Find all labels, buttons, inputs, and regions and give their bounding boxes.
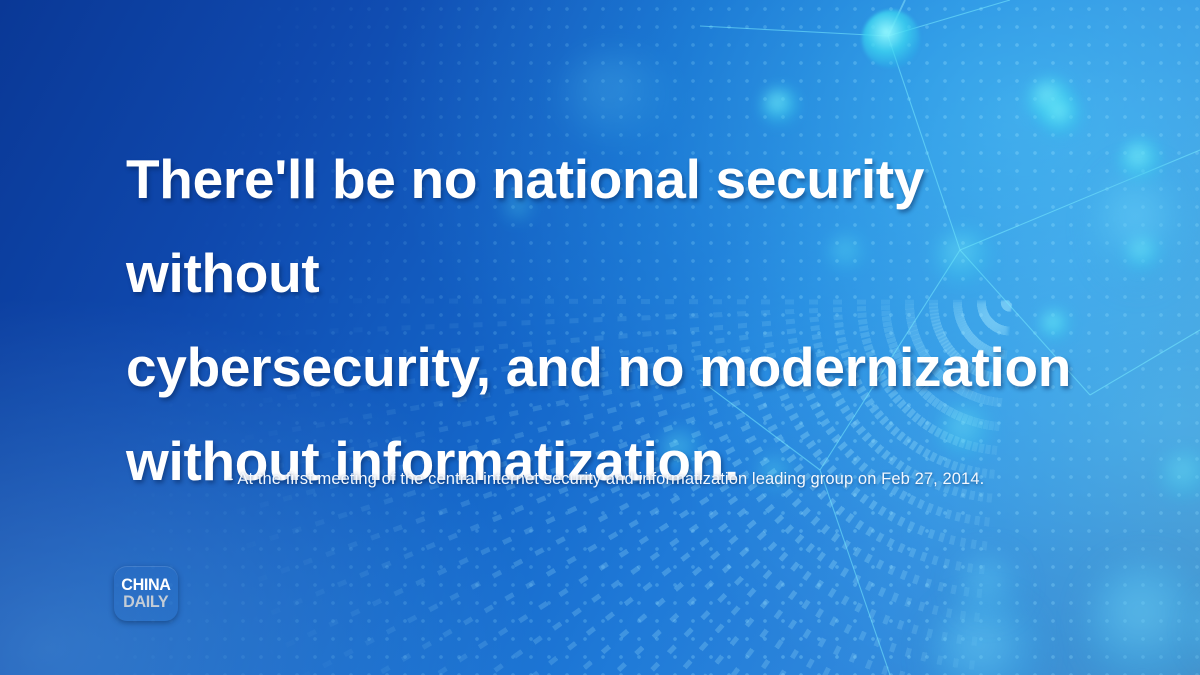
china-daily-logo[interactable]: CHINA DAILY xyxy=(114,566,178,621)
logo-line-china: CHINA xyxy=(121,577,170,593)
quote-card: There'll be no national security without… xyxy=(0,0,1200,675)
logo-line-daily: DAILY xyxy=(123,594,168,610)
quote-attribution: - At the first meeting of the central in… xyxy=(228,470,984,489)
card-content: There'll be no national security without… xyxy=(0,0,1200,675)
quote-headline: There'll be no national security without… xyxy=(126,132,1116,508)
